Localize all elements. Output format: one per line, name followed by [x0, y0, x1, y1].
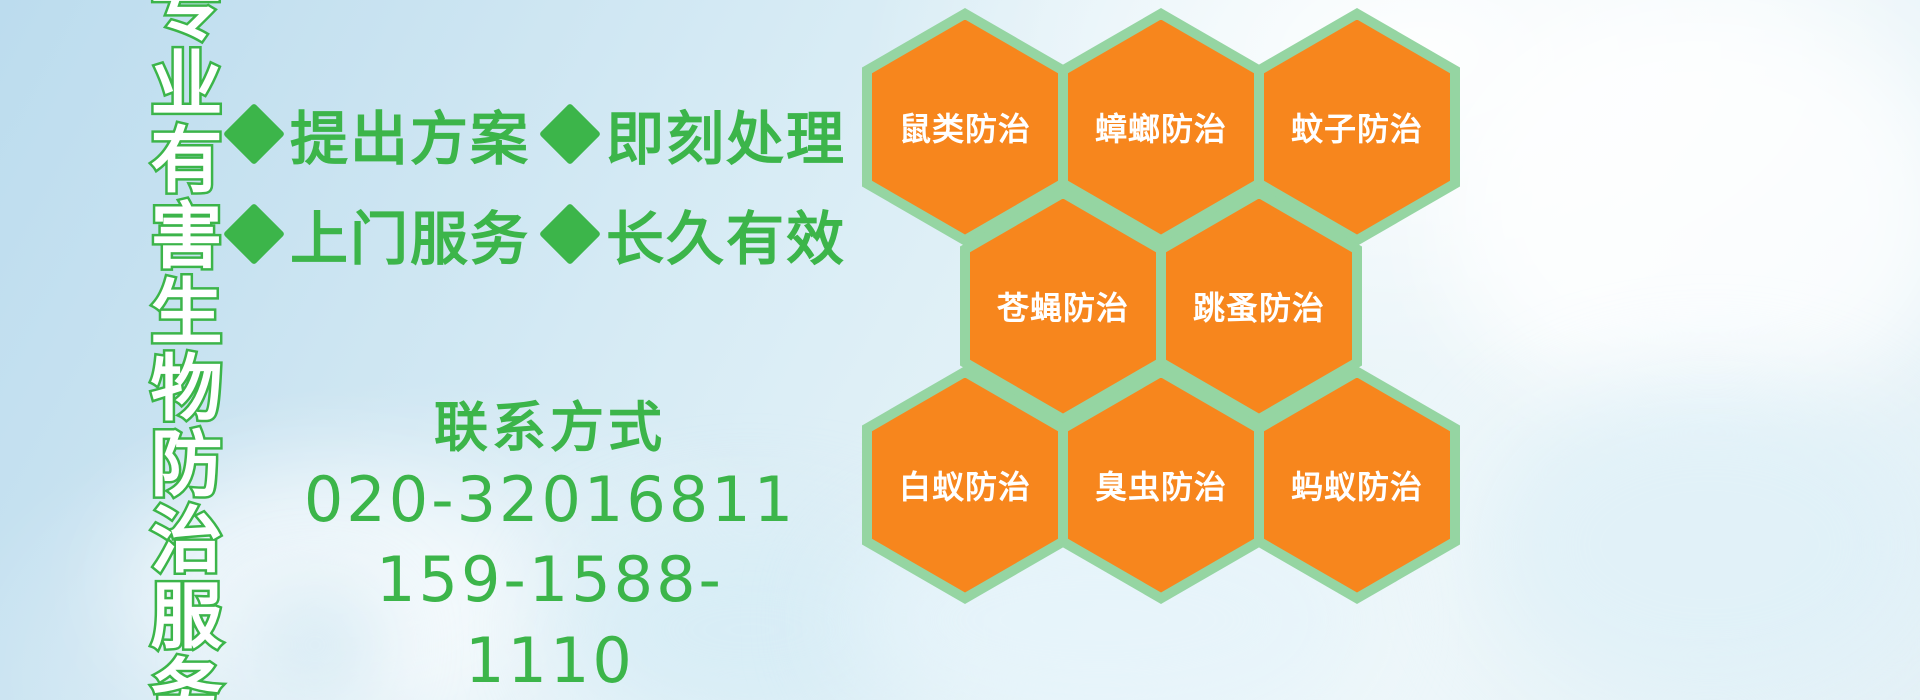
diamond-bullet-icon: [223, 103, 285, 165]
hex-inner: 白蚁防治: [872, 378, 1058, 593]
feature-list: 提出方案 即刻处理 上门服务 长久有效: [232, 84, 872, 284]
hex-inner: 苍蝇防治: [970, 199, 1156, 414]
service-hex-label: 蚊子防治: [1291, 104, 1423, 150]
service-hex-label: 跳蚤防治: [1193, 283, 1325, 329]
feature-label: 长久有效: [606, 192, 846, 276]
feature-item: 长久有效: [548, 192, 846, 276]
feature-label: 提出方案: [290, 92, 530, 176]
diamond-bullet-icon: [539, 203, 601, 265]
vertical-headline: 专业有害生物防治服务: [112, 12, 216, 688]
hex-inner: 蚂蚁防治: [1264, 378, 1450, 593]
feature-row: 提出方案 即刻处理: [232, 84, 872, 184]
service-hex-label: 蚂蚁防治: [1291, 462, 1423, 508]
service-honeycomb: 鼠类防治 蟑螂防治 蚊子防治 苍蝇防治 跳蚤防治 白蚁防治: [862, 0, 1462, 700]
background-blur-blob: [1480, 380, 1920, 700]
service-hex-label: 鼠类防治: [899, 104, 1031, 150]
hex-inner: 臭虫防治: [1068, 378, 1254, 593]
service-hex-label: 臭虫防治: [1095, 462, 1227, 508]
service-hex-label: 蟑螂防治: [1095, 104, 1227, 150]
feature-label: 即刻处理: [606, 92, 846, 176]
contact-block: 联系方式 020-32016811 159-1588-1110: [300, 396, 800, 700]
feature-row: 上门服务 长久有效: [232, 184, 872, 284]
contact-phone-landline[interactable]: 020-32016811: [300, 460, 800, 541]
hex-inner: 鼠类防治: [872, 20, 1058, 235]
feature-item: 提出方案: [232, 92, 530, 176]
hex-inner: 蚊子防治: [1264, 20, 1450, 235]
hex-inner: 跳蚤防治: [1166, 199, 1352, 414]
contact-phone-mobile[interactable]: 159-1588-1110: [300, 540, 800, 700]
service-hex-label: 苍蝇防治: [997, 283, 1129, 329]
pest-control-banner: 专业有害生物防治服务 提出方案 即刻处理 上门服务 长久有效 联系方式: [0, 0, 1920, 700]
feature-item: 即刻处理: [548, 92, 846, 176]
diamond-bullet-icon: [223, 203, 285, 265]
feature-label: 上门服务: [290, 192, 530, 276]
service-hex-label: 白蚁防治: [899, 462, 1031, 508]
background-blur-blob: [1440, 0, 1920, 420]
contact-title: 联系方式: [300, 396, 800, 460]
feature-item: 上门服务: [232, 192, 530, 276]
hex-inner: 蟑螂防治: [1068, 20, 1254, 235]
diamond-bullet-icon: [539, 103, 601, 165]
